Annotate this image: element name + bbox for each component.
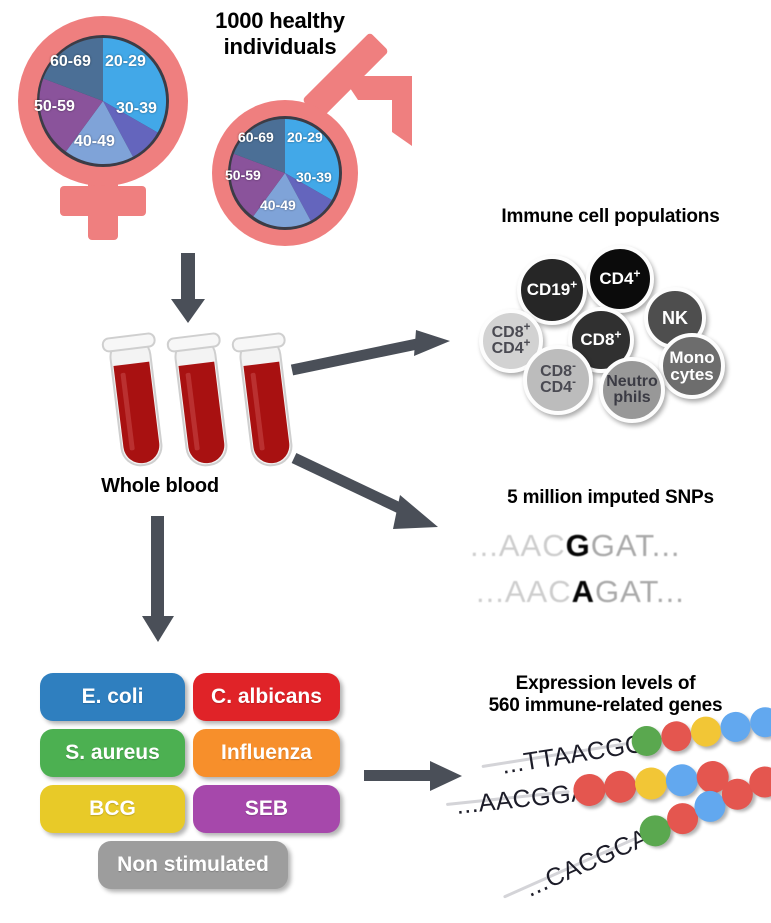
expression-title-line1: Expression levels of — [440, 673, 771, 695]
strand-middle-bead-2 — [603, 769, 638, 804]
whole-blood-label: Whole blood — [60, 475, 260, 499]
snp-bottom-suffix: GAT... — [595, 574, 685, 609]
stimulation-e-coli[interactable]: E. coli — [40, 673, 185, 721]
female-gender-symbol: 20-29 30-39 40-49 50-59 60-69 — [10, 8, 200, 248]
male-gender-symbol: 20-29 30-39 40-49 50-59 60-69 — [206, 72, 421, 252]
stimulation-c-albicans[interactable]: C. albicans — [193, 673, 340, 721]
snp-top-variant: G — [566, 528, 591, 563]
arrow-blood-to-immune-cells — [290, 330, 460, 390]
strand-top-bead-2 — [659, 719, 693, 753]
cell-cd4: CD4+ — [586, 245, 654, 313]
cell-monocytes: Monocytes — [659, 333, 725, 399]
snp-bottom-prefix: ...AAC — [476, 574, 572, 609]
cell-monocytes-label: Monocytes — [669, 349, 714, 384]
snp-bottom-variant: A — [572, 574, 595, 609]
cell-neutrophils: Neutrophils — [599, 357, 665, 423]
stimulation-label: SEB — [245, 797, 288, 821]
stimulation-influenza[interactable]: Influenza — [193, 729, 340, 777]
cohort-title-line1: 1000 healthy — [170, 8, 390, 34]
expression-title: Expression levels of 560 immune-related … — [440, 673, 771, 718]
expression-strands-group: ...TTAACGG...AACGGAT...CACGCAA — [455, 735, 771, 910]
stimulation-label: E. coli — [82, 685, 144, 709]
stimulation-label: BCG — [89, 797, 136, 821]
cell-cd8-label: CD8+ — [580, 331, 621, 348]
snp-sequence-top: ...AACGGAT... — [470, 528, 681, 564]
cell-cd8-cd4-neg-label: CD8-CD4- — [540, 364, 576, 397]
figure-canvas: 1000 healthy individuals 20-29 30- — [0, 0, 771, 922]
female-age-pie — [39, 38, 166, 164]
stimulation-label: C. albicans — [211, 685, 322, 709]
snps-title: 5 million imputed SNPs — [450, 487, 771, 509]
snp-top-prefix: ...AAC — [470, 528, 566, 563]
blood-tube-2 — [167, 333, 234, 468]
cell-nk-label: NK — [662, 309, 688, 327]
stimulation-label: Influenza — [221, 741, 312, 765]
stimulation-conditions-group: E. coliC. albicansS. aureusInfluenzaBCGS… — [40, 673, 340, 893]
cell-cd4-label: CD4+ — [599, 270, 640, 287]
stimulation-label: Non stimulated — [117, 853, 269, 877]
snp-sequence-bottom: ...AACAGAT... — [476, 574, 685, 610]
expression-title-line2: 560 immune-related genes — [440, 695, 771, 717]
arrow-stimulation-to-expression — [364, 757, 464, 797]
stimulation-seb[interactable]: SEB — [193, 785, 340, 833]
arrow-down-cohort-to-blood — [168, 253, 208, 325]
arrow-blood-to-snps — [292, 455, 452, 545]
stimulation-bcg[interactable]: BCG — [40, 785, 185, 833]
snp-top-suffix: GAT... — [591, 528, 681, 563]
cell-cd8-cd4-pos-label: CD8+CD4+ — [492, 325, 531, 358]
blood-tube-1 — [102, 333, 169, 468]
immune-cell-cluster: CD19+CD4+NKCD8+CD4+CD8+MonocytesCD8-CD4-… — [455, 245, 771, 415]
stimulation-non-stimulated[interactable]: Non stimulated — [98, 841, 288, 889]
cell-neutrophils-label: Neutrophils — [606, 374, 658, 407]
arrow-down-blood-to-stimulation — [138, 516, 178, 644]
stimulation-s-aureus[interactable]: S. aureus — [40, 729, 185, 777]
strand-middle-bead-4 — [664, 763, 699, 798]
cell-cd8-cd4-neg: CD8-CD4- — [523, 345, 593, 415]
blood-tubes-group — [96, 330, 306, 475]
strand-top-bead-3 — [689, 714, 723, 748]
cell-cd19-label: CD19+ — [527, 281, 578, 298]
stimulation-label: S. aureus — [65, 741, 160, 765]
immune-populations-title: Immune cell populations — [450, 206, 771, 228]
strand-middle-bead-3 — [633, 766, 668, 801]
male-age-pie — [230, 119, 339, 227]
snp-sequences-group: ...AACGGAT... ...AACAGAT... — [470, 528, 760, 623]
